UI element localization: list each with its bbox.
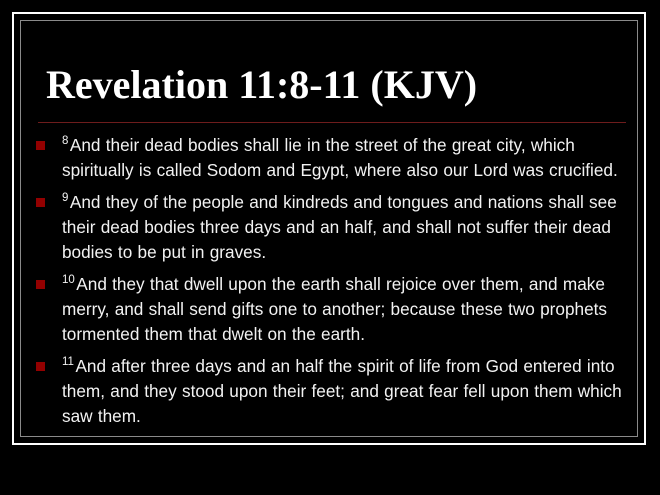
list-item: 10And they that dwell upon the earth sha… — [36, 272, 632, 347]
title-divider-rule — [38, 122, 626, 123]
slide-canvas: Revelation 11:8-11 (KJV) 8And their dead… — [0, 0, 660, 495]
verse-body: And they of the people and kindreds and … — [62, 192, 617, 262]
list-item: 9And they of the people and kindreds and… — [36, 190, 632, 265]
verse-body: And their dead bodies shall lie in the s… — [62, 135, 618, 180]
verse-number: 10 — [62, 274, 76, 286]
list-item: 8And their dead bodies shall lie in the … — [36, 133, 632, 183]
verse-number: 11 — [62, 356, 75, 368]
verse-body: And they that dwell upon the earth shall… — [62, 274, 607, 344]
slide-title: Revelation 11:8-11 (KJV) — [46, 62, 626, 108]
bullet-square-icon — [36, 198, 45, 207]
verse-text: 9And they of the people and kindreds and… — [62, 190, 632, 265]
scripture-bullet-list: 8And their dead bodies shall lie in the … — [36, 133, 632, 436]
list-item: 11And after three days and an half the s… — [36, 354, 632, 429]
verse-text: 11And after three days and an half the s… — [62, 354, 632, 429]
bullet-square-icon — [36, 280, 45, 289]
verse-text: 8And their dead bodies shall lie in the … — [62, 133, 632, 183]
verse-number: 9 — [62, 192, 70, 204]
bullet-square-icon — [36, 362, 45, 371]
verse-number: 8 — [62, 135, 70, 147]
slide-content: Revelation 11:8-11 (KJV) 8And their dead… — [0, 0, 660, 495]
verse-text: 10And they that dwell upon the earth sha… — [62, 272, 632, 347]
bullet-square-icon — [36, 141, 45, 150]
verse-body: And after three days and an half the spi… — [62, 356, 622, 426]
